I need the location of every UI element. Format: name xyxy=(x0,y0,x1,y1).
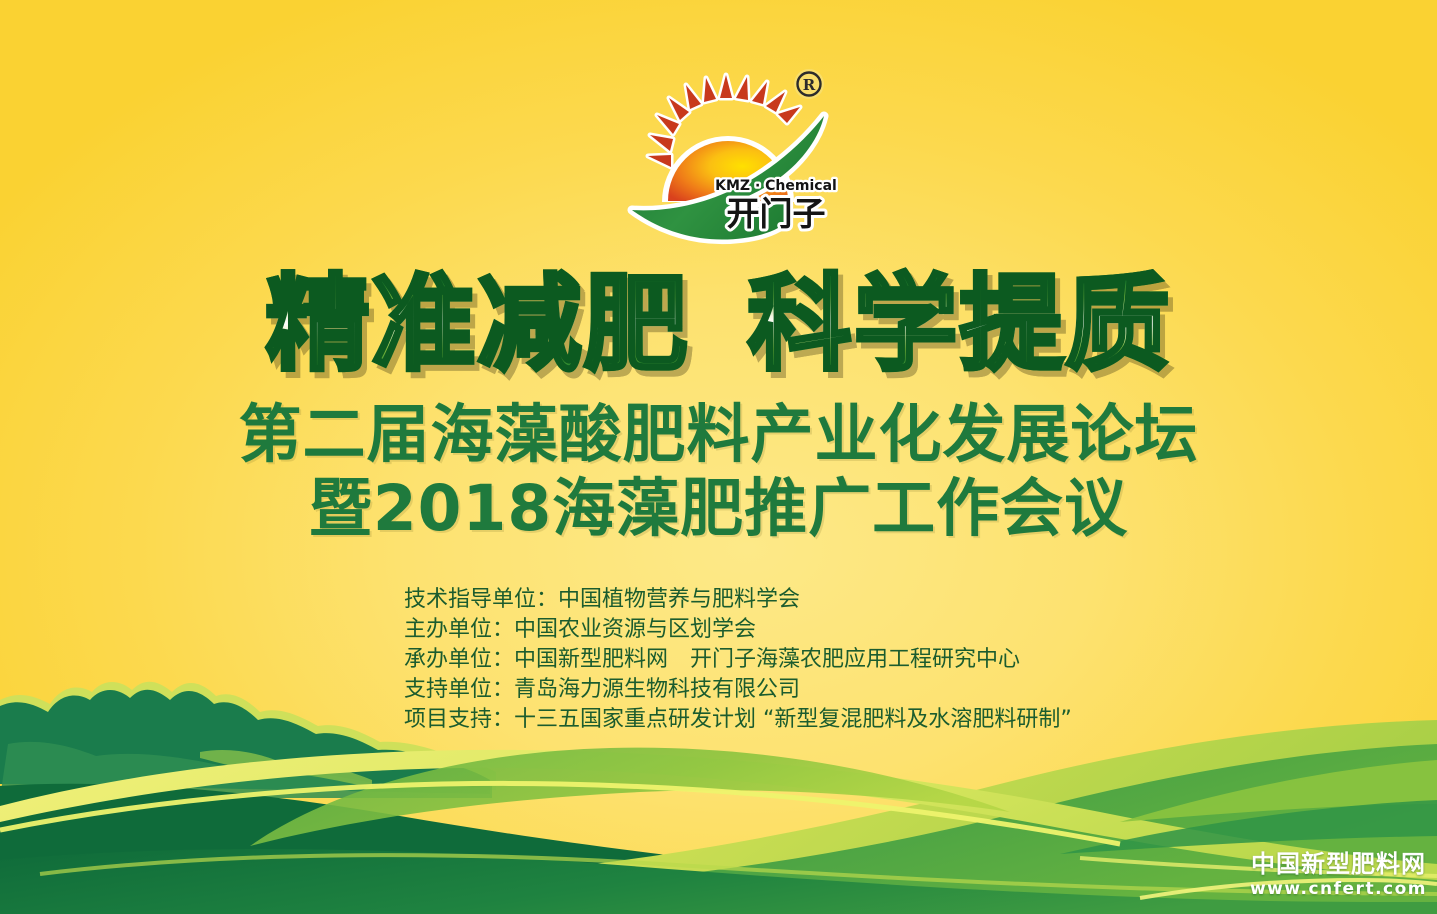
detail-line-organizer: 承办单位：中国新型肥料网 开门子海藻农肥应用工程研究中心 xyxy=(404,645,1304,675)
watermark-site-url: www.cnfert.com xyxy=(1250,878,1427,900)
detail-line-technical-guidance: 技术指导单位：中国植物营养与肥料学会 xyxy=(404,585,1304,615)
svg-text:KMZ · Chemical: KMZ · Chemical xyxy=(715,178,837,194)
subtitle-line-2: 暨2018海藻肥推广工作会议 xyxy=(0,472,1437,546)
svg-text:开门子: 开门子 xyxy=(727,194,826,233)
conference-banner: R KMZ · Chemical KMZ · Chemical 开门子 开门子 … xyxy=(0,0,1437,914)
headline-segment-2: 科学提质 xyxy=(748,268,1172,380)
brand-logo: R KMZ · Chemical KMZ · Chemical 开门子 开门子 xyxy=(618,62,848,247)
site-watermark: 中国新型肥料网 www.cnfert.com xyxy=(1250,850,1427,900)
detail-line-supporter: 支持单位：青岛海力源生物科技有限公司 xyxy=(404,675,1304,705)
headline: 精准减肥科学提质 xyxy=(0,268,1437,380)
watermark-site-name: 中国新型肥料网 xyxy=(1250,850,1427,878)
subtitle: 第二届海藻酸肥料产业化发展论坛 暨2018海藻肥推广工作会议 xyxy=(0,398,1437,546)
svg-text:R: R xyxy=(803,76,816,94)
detail-line-project-support: 项目支持：十三五国家重点研发计划 “新型复混肥料及水溶肥料研制” xyxy=(404,705,1304,735)
organizer-details: 技术指导单位：中国植物营养与肥料学会 主办单位：中国农业资源与区划学会 承办单位… xyxy=(404,585,1304,735)
detail-line-host: 主办单位：中国农业资源与区划学会 xyxy=(404,615,1304,645)
logo-brand-text: KMZ · Chemical KMZ · Chemical 开门子 开门子 xyxy=(715,178,837,233)
subtitle-line-1: 第二届海藻酸肥料产业化发展论坛 xyxy=(0,398,1437,472)
headline-segment-1: 精准减肥 xyxy=(265,268,689,380)
registered-trademark-icon: R xyxy=(794,69,824,99)
